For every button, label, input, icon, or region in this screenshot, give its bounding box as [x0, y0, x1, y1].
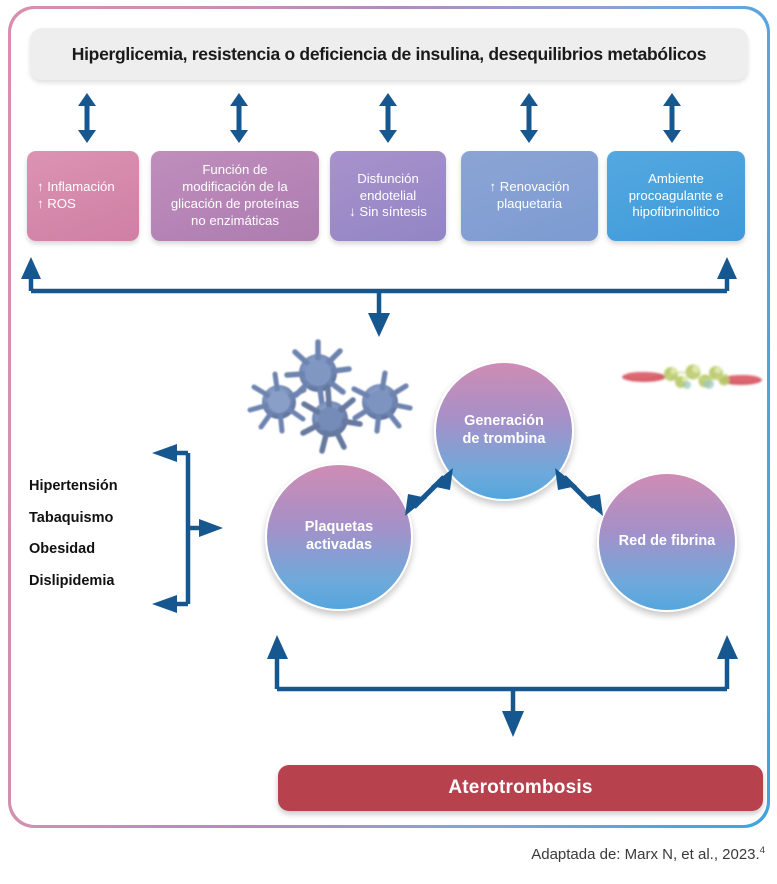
node-line: activadas	[305, 537, 374, 555]
result-label: Aterotrombosis	[448, 777, 592, 799]
double-arrow-plaquetas-trombina	[405, 468, 453, 516]
risk-factor-item: Dislipidemia	[29, 574, 164, 589]
activated-platelets-micrograph	[246, 339, 436, 464]
figure-frame: Hiperglicemia, resistencia o deficiencia…	[8, 6, 770, 828]
factor-line: no enzimáticas	[171, 213, 299, 230]
factor-line: hipofibrinolitico	[629, 204, 724, 221]
factor-box-glicacion-proteinas: Función de modificación de la glicación …	[151, 151, 319, 241]
figure-canvas: Hiperglicemia, resistencia o deficiencia…	[11, 9, 767, 825]
factor-line: ↑ Inflamación	[37, 179, 115, 196]
double-arrow-2	[226, 93, 252, 143]
factor-line: endotelial	[349, 188, 427, 205]
node-red-fibrina: Red de fibrina	[597, 472, 737, 612]
factor-line: procoagulante e	[629, 188, 724, 205]
factor-line: Función de	[171, 162, 299, 179]
double-arrow-5	[659, 93, 685, 143]
node-line: Red de fibrina	[619, 533, 716, 551]
factor-box-ambiente-procoagulante: Ambiente procoagulante e hipofibrinoliti…	[607, 151, 745, 241]
factor-line: glicación de proteínas	[171, 196, 299, 213]
double-arrow-3	[375, 93, 401, 143]
factor-box-disfuncion-endotelial: Disfunción endotelial ↓ Sin síntesis	[330, 151, 446, 241]
risk-factors-list: Hipertensión Tabaquismo Obesidad Dislipi…	[29, 479, 164, 605]
node-line: de trombina	[463, 431, 546, 449]
factor-line: Ambiente	[629, 171, 724, 188]
header-statement-text: Hiperglicemia, resistencia o deficiencia…	[72, 44, 706, 65]
double-arrow-4	[516, 93, 542, 143]
source-caption-superscript: 4	[760, 845, 765, 856]
header-statement-box: Hiperglicemia, resistencia o deficiencia…	[30, 28, 748, 80]
risk-factor-item: Obesidad	[29, 542, 164, 557]
node-line: Plaquetas	[305, 519, 374, 537]
factor-line: ↑ Renovación	[490, 179, 570, 196]
node-line: Generación	[463, 413, 546, 431]
factor-line: ↑ ROS	[37, 196, 115, 213]
factor-box-renovacion-plaquetaria: ↑ Renovación plaquetaria	[461, 151, 598, 241]
fibrin-network-micrograph	[619, 354, 767, 404]
factor-line: plaquetaria	[490, 196, 570, 213]
double-arrow-1	[74, 93, 100, 143]
factor-box-inflamacion-ros: ↑ Inflamación ↑ ROS	[27, 151, 139, 241]
node-generacion-trombina: Generación de trombina	[434, 361, 574, 501]
node-plaquetas-activadas: Plaquetas activadas	[265, 463, 413, 611]
source-caption: Adaptada de: Marx N, et al., 2023.4	[531, 845, 765, 863]
result-aterotrombosis-box: Aterotrombosis	[278, 765, 763, 811]
risk-factor-item: Tabaquismo	[29, 511, 164, 526]
factor-line: ↓ Sin síntesis	[349, 204, 427, 221]
risk-factor-item: Hipertensión	[29, 479, 164, 494]
factor-line: Disfunción	[349, 171, 427, 188]
figure-root: Hiperglicemia, resistencia o deficiencia…	[0, 0, 777, 884]
factor-line: modificación de la	[171, 179, 299, 196]
double-arrow-trombina-fibrina	[555, 468, 603, 516]
source-caption-text: Adaptada de: Marx N, et al., 2023.	[531, 846, 759, 863]
